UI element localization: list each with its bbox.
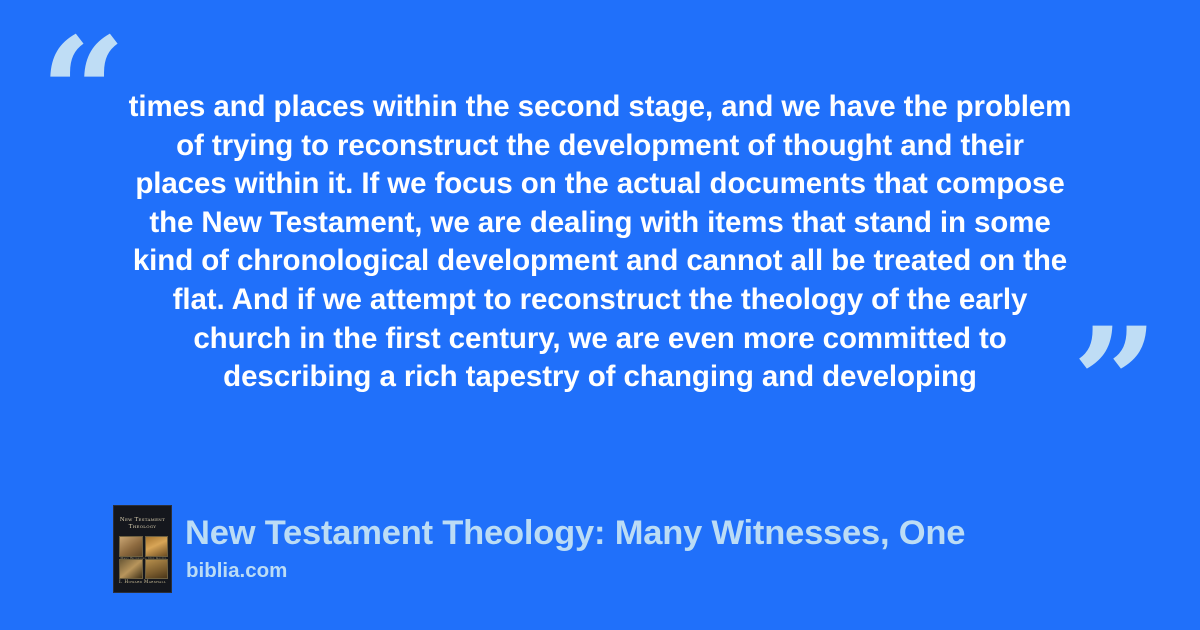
book-cover-subtitle: Many Witnesses, One Gospel: [118, 556, 169, 560]
source-url: biblia.com: [186, 558, 287, 584]
closing-quote-icon: ”: [1072, 308, 1158, 458]
quote-line: kind of chronological development and ca…: [108, 242, 1092, 281]
quote-line: flat. And if we attempt to reconstruct t…: [108, 281, 1092, 320]
quote-line: places within it. If we focus on the act…: [108, 165, 1092, 204]
quote-block: “ times and places within the second sta…: [0, 0, 1200, 460]
attribution-row: New Testament Theology Many Witnesses, O…: [113, 504, 1200, 596]
book-cover-image: [119, 559, 143, 580]
book-cover-image: [119, 536, 143, 557]
quote-line: the New Testament, we are dealing with i…: [108, 204, 1092, 243]
book-cover-author: I. Howard Marshall: [117, 580, 168, 585]
quote-line: describing a rich tapestry of changing a…: [108, 358, 1092, 397]
book-cover-image: [145, 559, 169, 580]
book-cover-image: [145, 536, 169, 557]
book-cover-thumbnail: New Testament Theology Many Witnesses, O…: [113, 505, 172, 593]
quote-card: “ times and places within the second sta…: [0, 0, 1200, 630]
quote-text: times and places within the second stage…: [108, 88, 1092, 397]
book-cover-title: New Testament Theology: [117, 517, 168, 532]
attribution-text: New Testament Theology: Many Witnesses, …: [185, 504, 1200, 596]
work-title: New Testament Theology: Many Witnesses, …: [185, 512, 965, 554]
quote-line: times and places within the second stage…: [108, 88, 1092, 127]
quote-line: of trying to reconstruct the development…: [108, 127, 1092, 166]
quote-line: church in the first century, we are even…: [108, 320, 1092, 359]
